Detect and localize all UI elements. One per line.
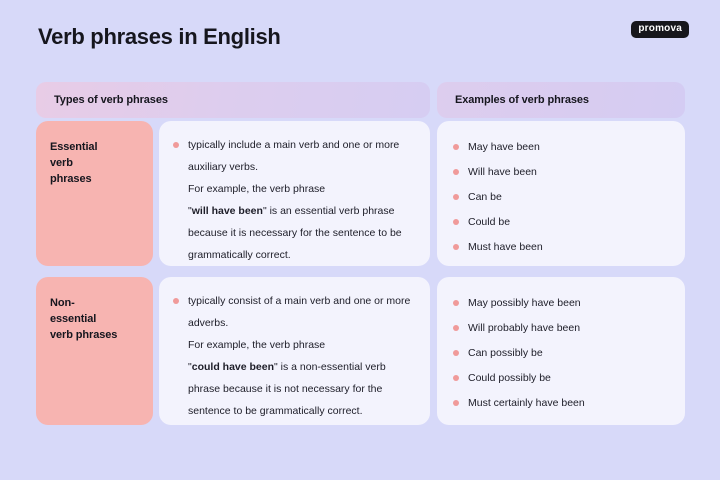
example-label: May possibly have been (468, 296, 581, 310)
bullet-dot-icon (453, 325, 459, 331)
bullet-dot-icon (453, 375, 459, 381)
list-item: Could be (453, 209, 669, 234)
bullet-dot-icon (453, 144, 459, 150)
column-header-examples-label: Examples of verb phrases (455, 94, 589, 106)
list-item: Can be (453, 184, 669, 209)
bullet-dot-icon (453, 350, 459, 356)
list-item: Must certainly have been (453, 390, 669, 415)
examples-card-essential: May have been Will have been Can be Coul… (437, 121, 685, 266)
example-label: Must certainly have been (468, 396, 585, 410)
description-card-essential: typically include a main verb and one or… (159, 121, 430, 266)
description-text: typically include a main verb and one or… (188, 134, 416, 266)
bullet-dot-icon (453, 219, 459, 225)
page-title: Verb phrases in English (38, 24, 281, 50)
list-item: Will have been (453, 159, 669, 184)
examples-card-non-essential: May possibly have been Will probably hav… (437, 277, 685, 425)
description-card-non-essential: typically consist of a main verb and one… (159, 277, 430, 425)
description-text: typically consist of a main verb and one… (188, 290, 416, 422)
bullet-dot-icon (453, 300, 459, 306)
description-text-emphasis: will have been (192, 205, 263, 217)
list-item: May have been (453, 134, 669, 159)
column-header-types-label: Types of verb phrases (54, 94, 168, 106)
example-label: May have been (468, 140, 540, 154)
page-header: Verb phrases in English promova (0, 0, 720, 68)
example-label: Will probably have been (468, 321, 580, 335)
description-text-emphasis: could have been (192, 361, 274, 373)
example-label: Will have been (468, 165, 537, 179)
type-card-label: Non- essential verb phrases (50, 295, 139, 343)
bullet-dot-icon (453, 194, 459, 200)
column-header-examples: Examples of verb phrases (437, 82, 685, 118)
example-label: Could be (468, 215, 510, 229)
bullet-dot-icon (453, 169, 459, 175)
list-item: Must have been (453, 234, 669, 259)
type-card-label: Essential verb phrases (50, 139, 139, 187)
bullet-dot-icon (453, 400, 459, 406)
column-headers: Types of verb phrases Examples of verb p… (0, 82, 720, 118)
list-item: Can possibly be (453, 340, 669, 365)
table-row: Essential verb phrases typically include… (0, 121, 720, 266)
type-card-essential: Essential verb phrases (36, 121, 153, 266)
description-bullet-row: typically consist of a main verb and one… (173, 290, 416, 422)
list-item: Could possibly be (453, 365, 669, 390)
bullet-dot-icon (173, 142, 179, 148)
type-card-non-essential: Non- essential verb phrases (36, 277, 153, 425)
list-item: May possibly have been (453, 290, 669, 315)
bullet-dot-icon (453, 244, 459, 250)
table-row: Non- essential verb phrases typically co… (0, 277, 720, 425)
column-header-types: Types of verb phrases (36, 82, 430, 118)
example-label: Can be (468, 190, 502, 204)
brand-logo: promova (631, 21, 689, 38)
example-label: Could possibly be (468, 371, 551, 385)
example-label: Can possibly be (468, 346, 543, 360)
list-item: Will probably have been (453, 315, 669, 340)
description-bullet-row: typically include a main verb and one or… (173, 134, 416, 266)
bullet-dot-icon (173, 298, 179, 304)
example-label: Must have been (468, 240, 543, 254)
